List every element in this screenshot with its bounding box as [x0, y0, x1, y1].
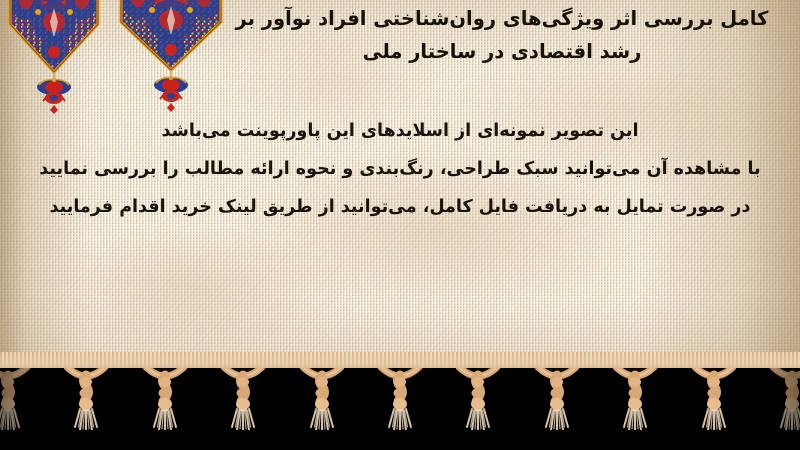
- slide-title: کامل بررسی اثر ویژگی‌های روان‌شناختی افر…: [222, 2, 782, 68]
- presentation-slide: کامل بررسی اثر ویژگی‌های روان‌شناختی افر…: [0, 0, 800, 450]
- slide-footer-bar: [0, 430, 800, 450]
- slide-body: این تصویر نمونه‌ای از اسلایدهای این پاور…: [14, 112, 786, 226]
- title-line-1: کامل بررسی اثر ویژگی‌های روان‌شناختی افر…: [222, 2, 782, 35]
- persian-medallion-left-icon: [6, 0, 102, 118]
- body-line-3: در صورت تمایل به دریافت فایل کامل، می‌تو…: [14, 188, 786, 226]
- body-line-2: با مشاهده آن می‌توانید سبک طراحی، رنگ‌بن…: [14, 150, 786, 188]
- persian-medallion-right-icon: [116, 0, 226, 118]
- title-line-2: رشد اقتصادی در ساختار ملی: [222, 35, 782, 68]
- body-line-1: این تصویر نمونه‌ای از اسلایدهای این پاور…: [14, 112, 786, 150]
- ornament-group: [0, 0, 260, 110]
